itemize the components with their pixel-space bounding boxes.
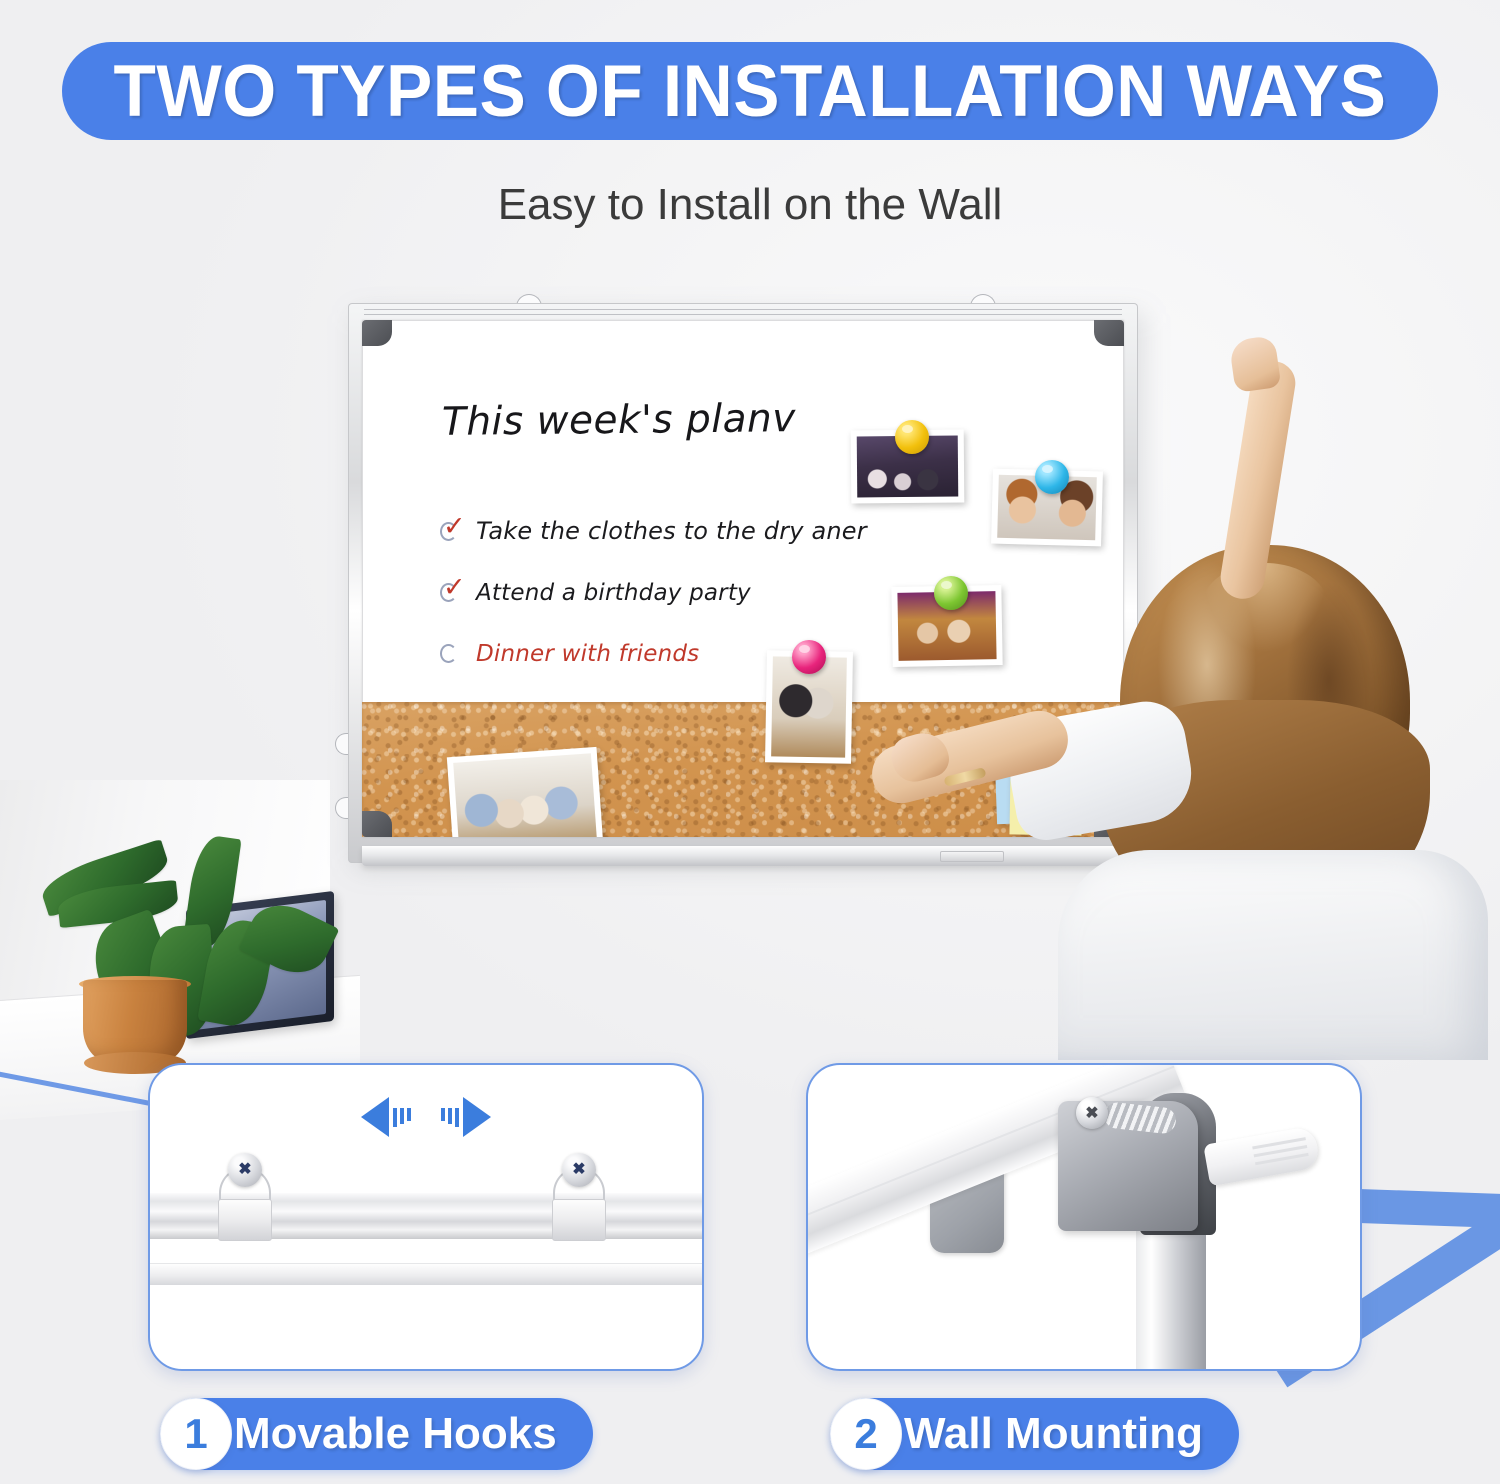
corner-cap-top-left: [362, 320, 392, 346]
white-clip: [1203, 1126, 1321, 1187]
step-number-badge: 1: [160, 1398, 232, 1470]
todo-item: ✓ Attend a birthday party: [440, 577, 960, 606]
todo-item-text: Dinner with friends: [476, 641, 699, 667]
page-title: TWO TYPES OF INSTALLATION WAYS: [114, 50, 1387, 133]
caption-label: Movable Hooks: [234, 1409, 557, 1459]
green-magnet: [934, 576, 968, 610]
right-arrow-icon: [441, 1097, 491, 1137]
detail-card-wall-mounting: ✖: [806, 1063, 1362, 1371]
todo-item: ✓ Take the clothes to the dry aner: [440, 516, 960, 545]
plant-pot: [83, 980, 187, 1062]
person-raised-hand: [1229, 335, 1282, 393]
aluminum-rail-lower: [148, 1263, 704, 1285]
checkbox-unchecked-icon: [440, 640, 476, 669]
checkbox-checked-icon: ✓: [440, 518, 476, 547]
todo-item-text: Attend a birthday party: [476, 580, 751, 606]
page-subtitle: Easy to Install on the Wall: [0, 180, 1500, 230]
detail-card-movable-hooks: ✖ ✖: [148, 1063, 704, 1371]
handwritten-title: This week's planv: [442, 396, 796, 445]
todo-list: ✓ Take the clothes to the dry aner ✓ Att…: [440, 516, 960, 699]
person-installing-board: [1040, 330, 1500, 1050]
left-arrow-icon: [361, 1097, 411, 1137]
todo-item: Dinner with friends: [440, 638, 960, 667]
screw-head-icon: ✖: [228, 1153, 262, 1187]
movable-hook-right: ✖: [546, 1153, 612, 1239]
photo-family-celebration: [447, 747, 603, 837]
caption-wall-mounting: 2 Wall Mounting: [830, 1396, 1239, 1472]
pen-tray: [362, 846, 1124, 866]
caption-movable-hooks: 1 Movable Hooks: [160, 1396, 593, 1472]
pink-magnet: [792, 640, 826, 674]
phillips-screw-icon: ✖: [1076, 1097, 1108, 1129]
checkbox-checked-icon: ✓: [440, 579, 476, 608]
corner-cap-bottom-left: [362, 811, 392, 837]
step-number-badge: 2: [830, 1398, 902, 1470]
yellow-magnet: [895, 420, 929, 454]
caption-label: Wall Mounting: [904, 1409, 1203, 1459]
screw-head-icon: ✖: [562, 1153, 596, 1187]
direction-arrows: [150, 1097, 702, 1137]
person-shirt: [1058, 850, 1488, 1060]
todo-item-text: Take the clothes to the dry aner: [476, 517, 867, 545]
pen-tray-nub: [940, 851, 1004, 862]
movable-hook-left: ✖: [212, 1153, 278, 1239]
header-title-pill: TWO TYPES OF INSTALLATION WAYS: [62, 42, 1438, 140]
